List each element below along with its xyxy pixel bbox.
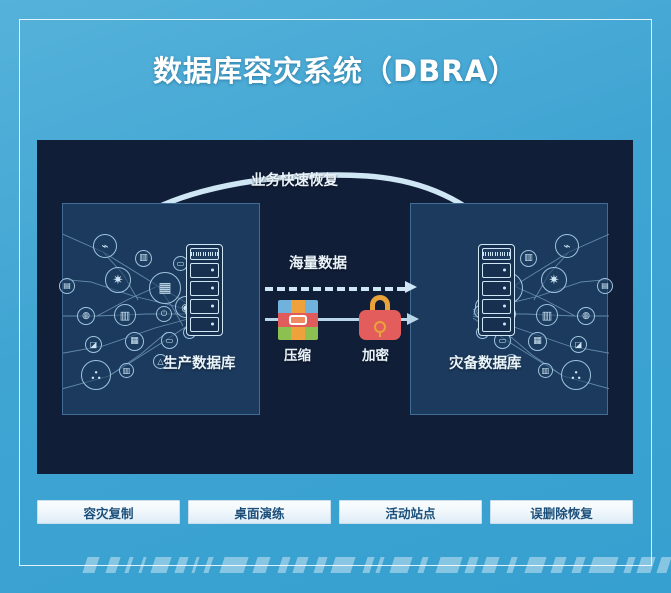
production-database-panel: ⌁ ▥ ✷ ▦ ▤ ▭ ◍ ▥ ⏻ ◉ ⬟ ◪ ▦ ▭ ▢ △ ▥ ⛬: [62, 203, 260, 415]
wifi-icon: ⌁: [93, 234, 117, 258]
button-delete-recovery[interactable]: 误删除恢复: [490, 500, 633, 524]
signal-icon: ▥: [135, 250, 152, 267]
decorative-stripe: [389, 557, 412, 573]
decorative-stripe: [481, 557, 499, 573]
decorative-stripe: [656, 557, 671, 573]
decorative-stripe: [375, 557, 384, 573]
button-disaster-replication[interactable]: 容灾复制: [37, 500, 180, 524]
hierarchy-icon: ⛬: [561, 360, 591, 390]
decorative-stripe: [435, 557, 462, 573]
decorative-stripe: [203, 557, 213, 573]
box-icon: ▥: [536, 304, 558, 326]
page-title: 数据库容灾系统（DBRA）: [0, 48, 671, 90]
chart-bar-icon: ▦: [149, 272, 181, 304]
decorative-stripe: [571, 557, 585, 573]
decorative-stripe: [82, 557, 99, 573]
decorative-stripe: [417, 557, 428, 573]
encrypt-caption: 加密: [362, 344, 389, 364]
decorative-stripe: [362, 557, 374, 573]
footer-button-row: 容灾复制 桌面演练 活动站点 误删除恢复: [37, 500, 633, 524]
leaf-icon: ◍: [577, 307, 595, 325]
box-icon: ▥: [114, 304, 136, 326]
production-database-label: 生产数据库: [163, 352, 236, 373]
dashed-data-flow: [265, 287, 405, 291]
decorative-stripe: [550, 557, 566, 573]
compress-caption: 压缩: [284, 344, 311, 364]
solid-flow-arrow-icon: [407, 313, 419, 325]
button-active-site[interactable]: 活动站点: [339, 500, 482, 524]
decorative-stripe: [636, 557, 655, 573]
decorative-stripe: [524, 557, 546, 573]
decorative-stripes: [0, 549, 671, 575]
leaf-icon: ◍: [77, 307, 95, 325]
hierarchy-icon: ⛬: [81, 360, 111, 390]
signal-icon: ▦: [125, 332, 144, 351]
lock-icon: [359, 295, 401, 340]
decorative-stripe: [174, 557, 188, 573]
decorative-stripe: [219, 557, 248, 573]
signal-icon: ▦: [528, 332, 547, 351]
tag-icon: ◪: [570, 336, 587, 353]
decorative-stripe: [292, 557, 308, 573]
decorative-stripe: [191, 557, 199, 573]
production-server-rack-icon: [186, 244, 223, 336]
slide-canvas: 数据库容灾系统（DBRA）: [0, 0, 671, 593]
decorative-stripe: [623, 557, 635, 573]
box-icon: ▥: [538, 363, 553, 378]
gear-icon: ✷: [541, 267, 567, 293]
power-icon: ⏻: [156, 306, 172, 322]
decorative-stripe: [313, 557, 327, 573]
diagram-stage: ⌁ ▥ ✷ ▦ ▤ ▭ ◍ ▥ ⏻ ◉ ⬟ ◪ ▦ ▭ ▢ △ ▥ ⛬: [37, 140, 633, 474]
dashed-flow-arrow-icon: [405, 281, 417, 293]
left-icon-cluster: ⌁ ▥ ✷ ▦ ▤ ▭ ◍ ▥ ⏻ ◉ ⬟ ◪ ▦ ▭ ▢ △ ▥ ⛬: [63, 204, 261, 416]
window-icon: ▭: [161, 332, 178, 349]
database-icon: ▤: [597, 278, 613, 294]
decorative-stripe: [506, 557, 517, 573]
signal-icon: ▥: [520, 250, 537, 267]
decorative-stripe: [105, 557, 120, 573]
box-icon: ▥: [119, 363, 134, 378]
compress-icon: [278, 300, 318, 340]
database-icon: ▤: [59, 278, 75, 294]
decorative-stripe: [124, 557, 133, 573]
button-desktop-drill[interactable]: 桌面演练: [188, 500, 331, 524]
decorative-stripe: [330, 557, 355, 573]
gear-icon: ✷: [105, 267, 131, 293]
tag-icon: ◪: [85, 336, 102, 353]
decorative-stripe: [252, 557, 270, 573]
decorative-stripe: [464, 557, 478, 573]
backup-database-label: 灾备数据库: [449, 352, 522, 373]
massive-data-label: 海量数据: [289, 252, 347, 273]
decorative-stripe: [150, 557, 171, 573]
decorative-stripe: [277, 557, 290, 573]
decorative-stripe: [138, 557, 146, 573]
recovery-label: 业务快速恢复: [251, 169, 338, 190]
decorative-stripe: [588, 557, 618, 573]
backup-server-rack-icon: [478, 244, 515, 336]
wifi-icon: ⌁: [555, 234, 579, 258]
